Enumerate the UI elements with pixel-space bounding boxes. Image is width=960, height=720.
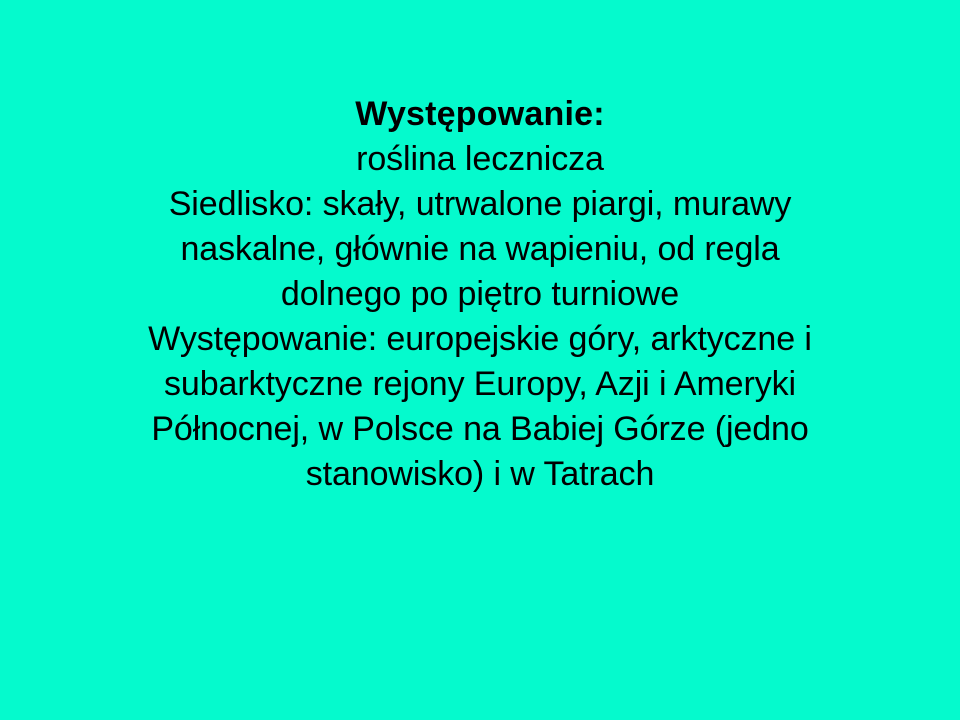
slide-body-line-4: dolnego po piętro turniowe xyxy=(40,272,920,317)
slide-body-line-6: subarktyczne rejony Europy, Azji i Amery… xyxy=(40,362,920,407)
slide-body-line-2: Siedlisko: skały, utrwalone piargi, mura… xyxy=(40,182,920,227)
slide-body-line-1: roślina lecznicza xyxy=(40,137,920,182)
slide-heading: Występowanie: xyxy=(40,92,920,137)
slide-text-block: Występowanie: roślina lecznicza Siedlisk… xyxy=(0,92,960,497)
slide-body-line-8: stanowisko) i w Tatrach xyxy=(40,452,920,497)
slide-canvas: Występowanie: roślina lecznicza Siedlisk… xyxy=(0,0,960,720)
slide-body-line-5: Występowanie: europejskie góry, arktyczn… xyxy=(40,317,920,362)
slide-body-line-7: Północnej, w Polsce na Babiej Górze (jed… xyxy=(40,407,920,452)
slide-body-line-3: naskalne, głównie na wapieniu, od regla xyxy=(40,227,920,272)
